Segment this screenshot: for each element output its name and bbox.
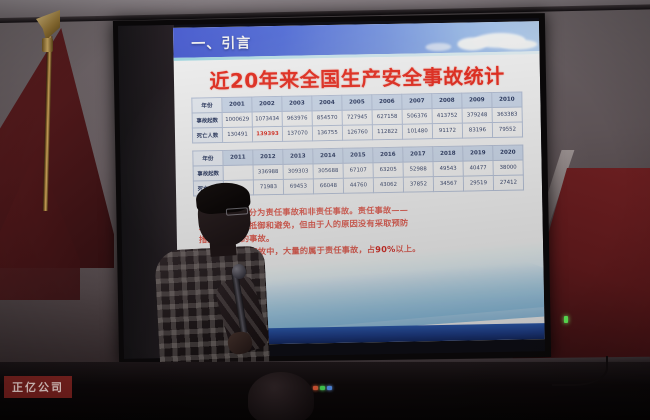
indicator-led-green (564, 316, 568, 323)
cloud-icon (457, 37, 487, 51)
table-corner-label: 年份 (193, 150, 223, 166)
watermark-badge: 正亿公司 (4, 376, 72, 398)
slide-title: 近20年来全国生产安全事故统计 (174, 59, 540, 95)
table-cell: 37852 (403, 177, 433, 193)
table-cell: 38000 (493, 160, 523, 176)
table-column-header: 2003 (282, 96, 312, 112)
status-led-blue (327, 386, 332, 390)
table-column-header: 2020 (493, 145, 523, 161)
table-cell: 627158 (372, 109, 402, 125)
table-column-header: 2008 (432, 93, 462, 109)
table-cell: 126760 (342, 125, 372, 141)
table-cell: 101480 (402, 124, 432, 140)
cloud-icon (499, 39, 537, 50)
table-column-header: 2012 (253, 149, 283, 165)
table-cell: 506376 (402, 109, 432, 125)
presentation-photo: 一、引言 近20年来全国生产安全事故统计 年份20012002200320042… (0, 0, 650, 420)
table-cell: 1073434 (252, 111, 282, 127)
table-cell (223, 165, 253, 181)
table-cell: 83196 (462, 123, 492, 139)
table-cell: 67107 (343, 163, 373, 179)
table-column-header: 2007 (402, 94, 432, 110)
table-row-label: 死亡人数 (192, 127, 222, 143)
table-cell: 139393 (252, 126, 282, 142)
table-column-header: 2015 (343, 148, 373, 164)
table-cell: 40477 (463, 161, 493, 177)
table-cell: 963976 (282, 111, 312, 127)
table-cell: 27412 (493, 175, 523, 191)
table-column-header: 2016 (373, 147, 403, 163)
table-cell: 130491 (222, 127, 252, 143)
table-column-header: 2019 (463, 146, 493, 162)
statistics-table-2001-2010: 年份20012002200320042005200620072008200920… (191, 91, 523, 143)
audience-head-silhouette (248, 372, 314, 420)
table-column-header: 2010 (492, 92, 522, 108)
table-column-header: 2018 (433, 146, 463, 162)
table-cell: 1000629 (222, 112, 252, 128)
table-cell: 336988 (253, 164, 283, 180)
table-cell: 305688 (313, 163, 343, 179)
table-cell: 112822 (372, 124, 402, 140)
status-led-green (320, 386, 325, 390)
table-column-header: 2014 (313, 148, 343, 164)
table-cell: 137070 (282, 126, 312, 142)
table-cell: 79552 (492, 122, 522, 138)
table-cell: 413752 (432, 108, 462, 124)
table-corner-label: 年份 (192, 98, 222, 114)
table-cell: 43062 (373, 177, 403, 193)
table-column-header: 2011 (223, 150, 253, 166)
table-cell: 727945 (342, 110, 372, 126)
table-cell: 52988 (403, 162, 433, 178)
table-cell: 49543 (433, 161, 463, 177)
table-row-label: 事故起数 (193, 165, 223, 181)
table-cell: 309303 (283, 164, 313, 180)
table-cell: 136755 (312, 125, 342, 141)
status-led-red (313, 386, 318, 390)
table-cell: 29519 (463, 176, 493, 192)
table-column-header: 2009 (462, 93, 492, 109)
table-cell: 91172 (432, 123, 462, 139)
cloud-icon (425, 43, 451, 51)
table-body: 年份20012002200320042005200620072008200920… (192, 92, 523, 143)
slide-section-header: 一、引言 (191, 32, 251, 53)
table-column-header: 2006 (372, 94, 402, 110)
table-cell: 363383 (492, 107, 522, 123)
table-cell: 854570 (312, 110, 342, 126)
table-cell: 34567 (433, 176, 463, 192)
table-column-header: 2002 (252, 96, 282, 112)
table-column-header: 2017 (403, 147, 433, 163)
table-column-header: 2004 (312, 95, 342, 111)
table-row-label: 事故起数 (192, 113, 222, 129)
table-cell: 379248 (462, 108, 492, 124)
table-cell: 44760 (343, 178, 373, 194)
table-cell: 66048 (313, 178, 343, 194)
table-column-header: 2001 (222, 97, 252, 113)
table-cell: 63205 (373, 162, 403, 178)
table-column-header: 2005 (342, 95, 372, 111)
flag-collar (42, 38, 53, 52)
table-column-header: 2013 (283, 149, 313, 165)
